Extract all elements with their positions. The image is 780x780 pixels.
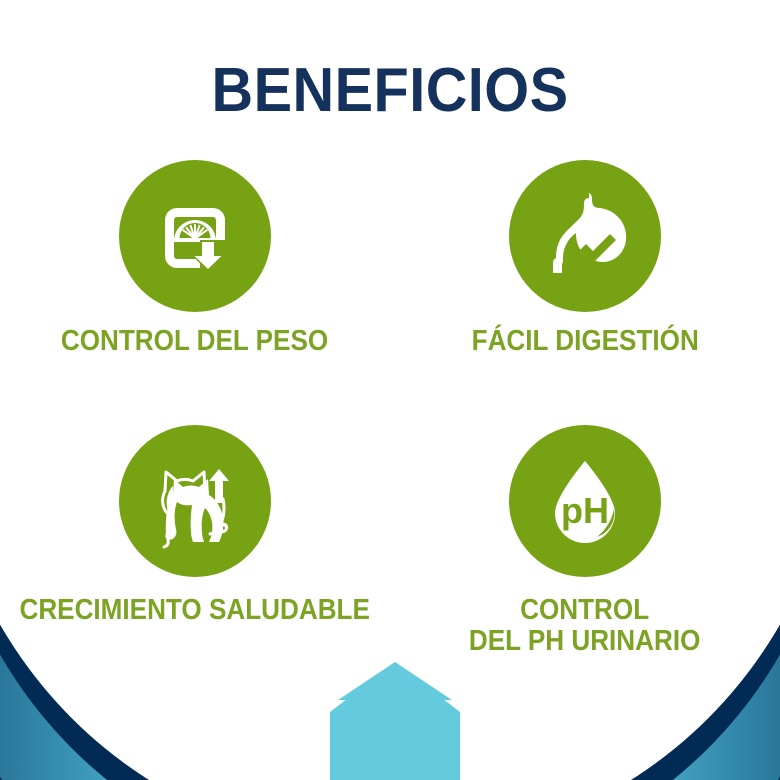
benefits-row-1: CONTROL DEL PESO FÁCIL DIGESTIÓN — [0, 160, 780, 357]
benefits-infographic: BENEFICIOS — [0, 0, 780, 780]
center-peak-base — [330, 662, 460, 780]
ph-label: pH — [561, 490, 609, 531]
benefits-row-2: CRECIMIENTO SALUDABLE pH — [0, 425, 780, 657]
center-peak-triangle — [338, 662, 452, 700]
benefits-grid: CONTROL DEL PESO FÁCIL DIGESTIÓN — [0, 160, 780, 657]
benefit-icon-badge — [119, 160, 271, 312]
stomach-check-icon — [535, 186, 635, 286]
benefit-item-weight-control[interactable]: CONTROL DEL PESO — [0, 160, 390, 357]
benefit-label: CRECIMIENTO SALUDABLE — [20, 595, 370, 626]
benefit-label: FÁCIL DIGESTIÓN — [471, 326, 698, 357]
weight-scale-down-arrow-icon — [145, 186, 245, 286]
benefit-item-urinary-ph[interactable]: pH CONTROL DEL PH URINARIO — [390, 425, 780, 657]
benefit-icon-badge — [509, 160, 661, 312]
benefit-icon-badge: pH — [509, 425, 661, 577]
benefit-label: CONTROL DEL PH URINARIO — [469, 595, 701, 657]
benefit-icon-badge — [119, 425, 271, 577]
benefit-item-easy-digestion[interactable]: FÁCIL DIGESTIÓN — [390, 160, 780, 357]
page-title: BENEFICIOS — [27, 58, 752, 123]
ph-water-droplet-icon: pH — [535, 451, 635, 551]
benefit-item-healthy-growth[interactable]: CRECIMIENTO SALUDABLE — [0, 425, 390, 657]
growing-cat-up-arrow-icon — [143, 449, 247, 553]
benefit-label: CONTROL DEL PESO — [61, 326, 328, 357]
